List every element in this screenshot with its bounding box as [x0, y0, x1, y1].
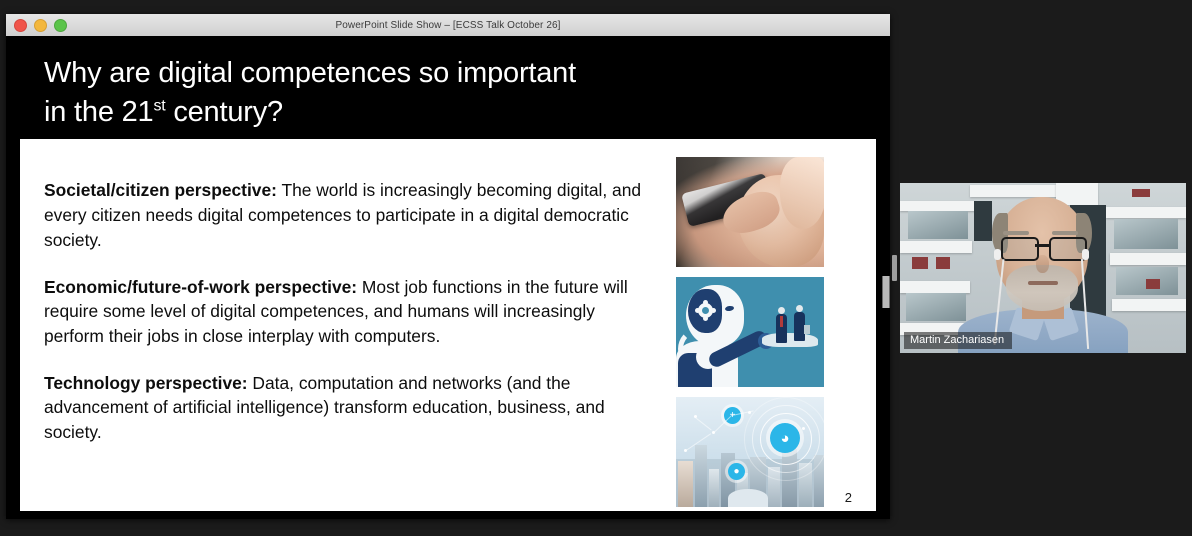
- bullet-societal: Societal/citizen perspective: The world …: [44, 178, 644, 252]
- slide-title-line-2: in the 21st century?: [44, 93, 684, 132]
- participant-eyebrow-left: [1003, 231, 1029, 235]
- bullet-economic-lead: Economic/future-of-work perspective:: [44, 277, 357, 297]
- business-man-figure: [775, 307, 787, 343]
- wifi-icon: ◕: [770, 423, 800, 453]
- smart-city-network-photo: ◕ + ●: [676, 397, 824, 507]
- maximize-window-icon[interactable]: [54, 19, 67, 32]
- powerpoint-slideshow-window[interactable]: PowerPoint Slide Show – [ECSS Talk Octob…: [6, 14, 890, 519]
- balcony-slab: [1110, 253, 1186, 265]
- participant-eyebrow-right: [1052, 231, 1078, 235]
- robot-and-business-people-illustration: [676, 277, 824, 387]
- slide-bullet-list: Societal/citizen perspective: The world …: [44, 161, 644, 445]
- interior-accent: [936, 257, 950, 269]
- desktop-background: PowerPoint Slide Show – [ECSS Talk Octob…: [0, 0, 1192, 536]
- eyeglass-lens-left: [1001, 237, 1039, 261]
- ceiling-slab: [970, 185, 1058, 197]
- participant-figure: [968, 197, 1118, 353]
- participant-name-label: Martin Zachariasen: [904, 332, 1012, 349]
- slide-number: 2: [845, 490, 852, 505]
- participant-mouth: [1028, 281, 1058, 285]
- slide-title-ordinal-suffix: st: [153, 97, 165, 114]
- hand-holding-smartphone-photo: [676, 157, 824, 267]
- business-man-head: [778, 307, 785, 314]
- business-man-tie: [780, 316, 783, 327]
- slide-title-line-1: Why are digital competences so important: [44, 54, 684, 93]
- bullet-economic: Economic/future-of-work perspective: Mos…: [44, 275, 644, 349]
- gear-center: [702, 307, 709, 314]
- bullet-societal-lead: Societal/citizen perspective:: [44, 180, 277, 200]
- window-titlebar[interactable]: PowerPoint Slide Show – [ECSS Talk Octob…: [6, 14, 890, 37]
- slide-content-card: Societal/citizen perspective: The world …: [20, 139, 876, 511]
- business-woman-head: [796, 305, 803, 312]
- interior-accent: [1132, 189, 1150, 197]
- city-dome-building: [728, 489, 768, 507]
- earphone-left: [994, 249, 1001, 260]
- interior-accent: [912, 257, 928, 269]
- eyeglasses-icon: [1000, 237, 1084, 257]
- video-participant-tile[interactable]: Martin Zachariasen: [900, 183, 1186, 353]
- photo-shading: [676, 157, 824, 267]
- close-window-icon[interactable]: [14, 19, 27, 32]
- balcony-slab: [900, 281, 970, 293]
- eyeglass-bridge: [1035, 244, 1049, 247]
- slide-title: Why are digital competences so important…: [44, 54, 684, 131]
- balcony-slab: [900, 201, 976, 211]
- slide-title-line-2-post: century?: [165, 96, 283, 128]
- city-building: [678, 461, 693, 507]
- network-node: [802, 427, 805, 430]
- balcony-slab: [900, 241, 972, 253]
- slide-image-stack: ◕ + ●: [676, 157, 824, 507]
- bullet-technology-lead: Technology perspective:: [44, 373, 248, 393]
- balcony-slab: [1106, 207, 1186, 218]
- glass-railing: [1114, 219, 1178, 249]
- minimize-window-icon[interactable]: [34, 19, 47, 32]
- shield-node-icon: ●: [728, 463, 745, 480]
- glass-railing: [906, 293, 966, 321]
- business-woman-bag: [804, 325, 810, 334]
- slide-canvas[interactable]: Why are digital competences so important…: [6, 36, 890, 519]
- video-scene: Martin Zachariasen: [900, 183, 1186, 353]
- robot-hand: [762, 333, 818, 347]
- bullet-technology: Technology perspective: Data, computatio…: [44, 371, 644, 445]
- business-woman-figure: [793, 305, 805, 341]
- window-resize-handle[interactable]: [882, 276, 890, 308]
- interior-accent: [1146, 279, 1160, 289]
- earphone-right: [1082, 249, 1089, 260]
- window-title: PowerPoint Slide Show – [ECSS Talk Octob…: [335, 20, 560, 31]
- window-traffic-lights[interactable]: [14, 14, 67, 36]
- video-panel-drag-handle[interactable]: [892, 255, 897, 281]
- city-building: [709, 469, 719, 507]
- slide-title-line-2-pre: in the 21: [44, 96, 153, 128]
- glass-railing: [908, 211, 968, 239]
- balcony-slab: [1112, 299, 1186, 311]
- city-building: [695, 445, 707, 507]
